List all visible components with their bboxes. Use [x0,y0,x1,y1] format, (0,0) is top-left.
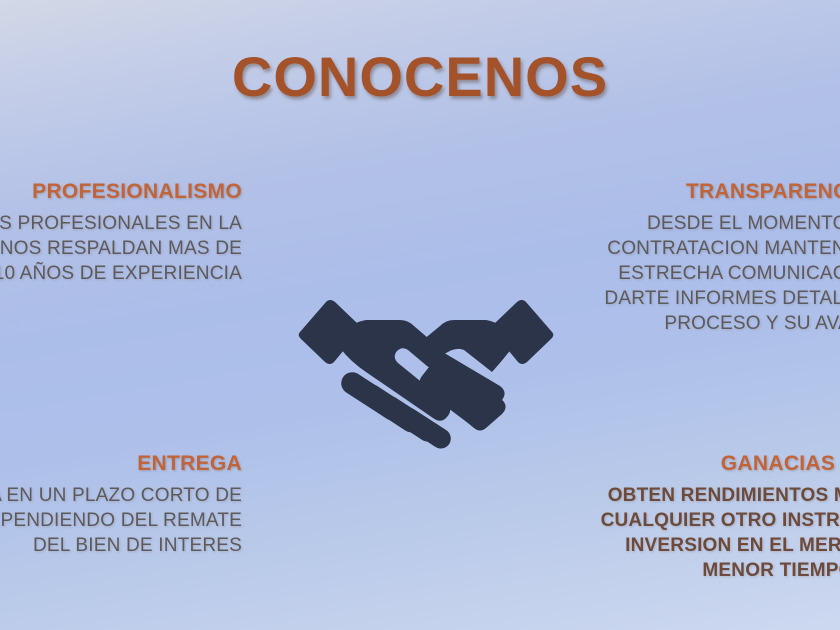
block-line: DARTE INFORMES DETALLADOS DEL [598,286,840,311]
text-block-entrega: ENTREGA ENTREGA EN UN PLAZO CORTO DE TIE… [0,452,242,558]
text-block-profesionalismo: PROFESIONALISMO SOMOS PROFESIONALES EN L… [0,180,242,286]
block-line: PROCESO Y SU AVANCE [598,311,840,336]
text-block-ganacias: GANACIAS OBTEN RENDIMIENTOS MAYORES A CU… [598,452,840,583]
block-heading-entrega: ENTREGA [0,452,242,476]
text-block-transparencia: TRANSPARENCIA DESDE EL MOMENTO DE LA CON… [598,180,840,336]
block-line: DESDE EL MOMENTO DE LA [598,211,840,236]
page-title: CONOCENOS [0,44,840,109]
block-line: MATERIA NOS RESPALDAN MAS DE [0,236,242,261]
block-line: SOMOS PROFESIONALES EN LA [0,211,242,236]
block-line: ESTRECHA COMUNICACION PARA [598,261,840,286]
block-heading-ganacias: GANACIAS [598,452,840,476]
block-line: DEL BIEN DE INTERES [0,533,242,558]
block-heading-profesionalismo: PROFESIONALISMO [0,180,242,204]
block-heading-transparencia: TRANSPARENCIA [598,180,840,204]
block-line: CONTRATACION MANTENEMOS UNA [598,236,840,261]
block-line: TIEMPO DEPENDIENDO DEL REMATE [0,508,242,533]
slide-canvas: CONOCENOS PROFESIONALISMO SOMOS PROFESIO… [0,0,840,630]
block-line: MENOR TIEMPO [598,558,840,583]
block-line: ENTREGA EN UN PLAZO CORTO DE [0,483,242,508]
handshake-icon [296,276,556,456]
block-line: 10 AÑOS DE EXPERIENCIA [0,261,242,286]
block-line: CUALQUIER OTRO INSTRUMENTO DE [598,508,840,533]
block-line: INVERSION EN EL MERCADO EN [598,533,840,558]
block-line: OBTEN RENDIMIENTOS MAYORES A [598,483,840,508]
